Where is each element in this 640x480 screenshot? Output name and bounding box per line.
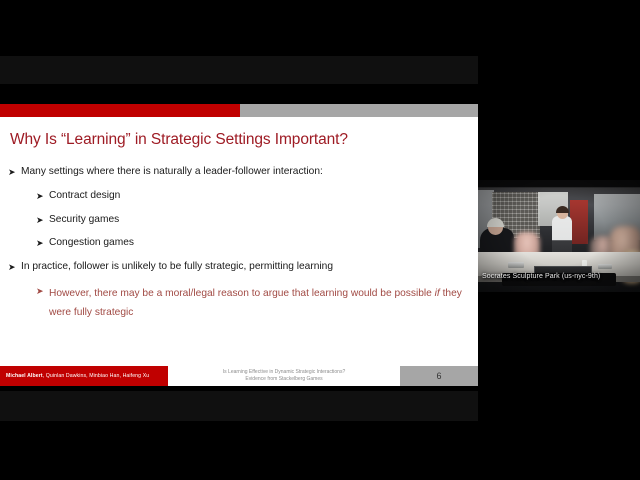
- bullet-item: ➤ Contract design: [36, 190, 468, 203]
- bullet-text: In practice, follower is unlikely to be …: [21, 261, 468, 274]
- bullet-text: Many settings where there is naturally a…: [21, 166, 468, 179]
- bullet-text: Security games: [49, 214, 468, 227]
- footer-authors: Michael Albert, Quinlan Dawkins, Minbiao…: [0, 366, 168, 386]
- slide-header-bar-gray: [240, 104, 478, 117]
- letterbox-band-top: [0, 56, 478, 84]
- bullet-text-highlight: However, there may be a moral/legal reas…: [49, 285, 468, 323]
- bullet-marker-icon: ➤: [36, 285, 49, 297]
- bullet-marker-icon: ➤: [36, 237, 49, 249]
- bullet-marker-icon: ➤: [36, 214, 49, 226]
- footer-author-rest: , Quinlan Dawkins, Minbiao Han, Haifeng …: [43, 373, 150, 379]
- bullet-marker-icon: ➤: [36, 190, 49, 202]
- footer-title-line-2: Evidence from Stackelberg Games: [245, 376, 322, 384]
- bullet-text: Contract design: [49, 190, 468, 203]
- slide-header-bars: [0, 104, 478, 117]
- participant-video-tile[interactable]: Socrates Sculpture Park (us-nyc-9th): [478, 180, 640, 292]
- bullet-item: ➤ Congestion games: [36, 237, 468, 250]
- letterbox-band-bottom: [0, 391, 478, 421]
- laptop-device-2: [598, 264, 612, 269]
- bullet-item-highlight: ➤ However, there may be a moral/legal re…: [36, 285, 468, 323]
- video-conference-stage: Why Is “Learning” in Strategic Settings …: [0, 0, 640, 480]
- bullet-item: ➤ Security games: [36, 214, 468, 227]
- footer-title-line-1: Is Learning Effective in Dynamic Strateg…: [223, 369, 345, 377]
- slide-footer: Michael Albert, Quinlan Dawkins, Minbiao…: [0, 366, 478, 386]
- highlight-text-before: However, there may be a moral/legal reas…: [49, 288, 435, 299]
- slide-header-bar-red: [0, 104, 240, 117]
- video-room-label: Socrates Sculpture Park (us-nyc-9th): [482, 273, 600, 280]
- slide-bullet-list: ➤ Many settings where there is naturally…: [8, 166, 468, 334]
- red-wall-panel: [570, 200, 588, 244]
- bullet-marker-icon: ➤: [8, 261, 21, 273]
- slide-page-number: 6: [400, 366, 478, 386]
- laptop-device-1: [508, 262, 524, 268]
- slide-title: Why Is “Learning” in Strategic Settings …: [10, 131, 460, 149]
- bullet-text: Congestion games: [49, 237, 468, 250]
- bullet-marker-icon: ➤: [8, 166, 21, 178]
- bullet-item: ➤ In practice, follower is unlikely to b…: [8, 261, 468, 274]
- footer-author-primary: Michael Albert: [6, 373, 43, 379]
- footer-paper-title: Is Learning Effective in Dynamic Strateg…: [168, 366, 400, 386]
- bullet-item: ➤ Many settings where there is naturally…: [8, 166, 468, 179]
- standing-presenter-hair: [556, 206, 569, 213]
- shared-slide[interactable]: Why Is “Learning” in Strategic Settings …: [0, 104, 478, 386]
